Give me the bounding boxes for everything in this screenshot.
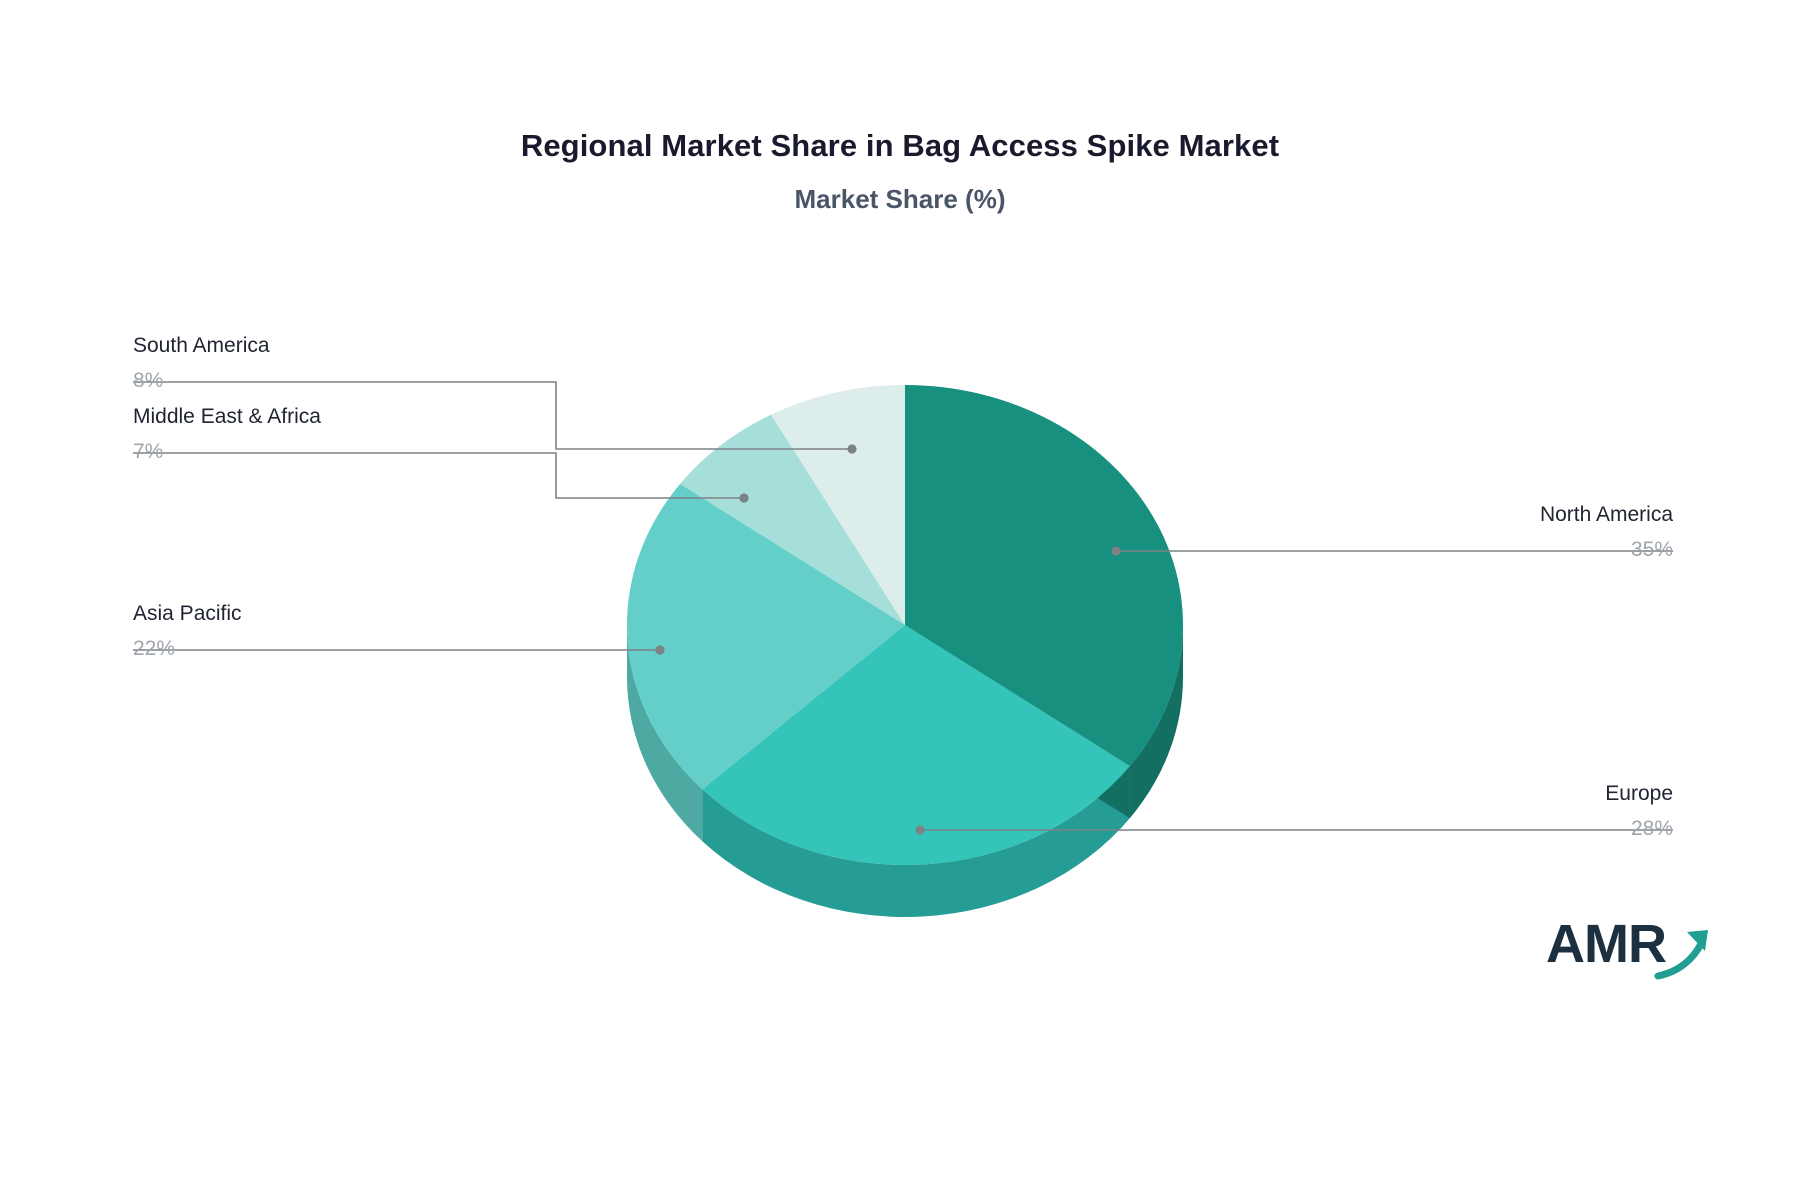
leader-dot-middle-east-africa <box>739 493 748 502</box>
callout-label-south-america: South America <box>133 331 553 361</box>
callout-value-south-america: 8% <box>133 362 553 396</box>
leader-dot-north-america <box>1111 546 1120 555</box>
callout-label-middle-east-africa: Middle East & Africa <box>133 402 553 432</box>
callout-label-europe: Europe <box>1253 779 1673 809</box>
leader-dot-europe <box>915 825 924 834</box>
chart-canvas: Regional Market Share in Bag Access Spik… <box>0 0 1800 1196</box>
leader-lines <box>0 0 1800 1196</box>
callout-label-north-america: North America <box>1253 500 1673 530</box>
amr-logo: AMR <box>1546 910 1736 988</box>
callout-value-europe: 28% <box>1253 810 1673 844</box>
callout-asia-pacific: Asia Pacific 22% <box>133 599 553 664</box>
callout-value-middle-east-africa: 7% <box>133 433 553 467</box>
leader-dot-asia-pacific <box>655 645 664 654</box>
callout-europe: Europe 28% <box>1253 779 1673 844</box>
leader-dot-south-america <box>847 444 856 453</box>
callout-middle-east-africa: Middle East & Africa 7% <box>133 402 553 467</box>
callout-label-asia-pacific: Asia Pacific <box>133 599 553 629</box>
callout-value-north-america: 35% <box>1253 531 1673 565</box>
callout-south-america: South America 8% <box>133 331 553 396</box>
callout-value-asia-pacific: 22% <box>133 630 553 664</box>
callout-north-america: North America 35% <box>1253 500 1673 565</box>
amr-logo-text: AMR <box>1546 914 1666 974</box>
